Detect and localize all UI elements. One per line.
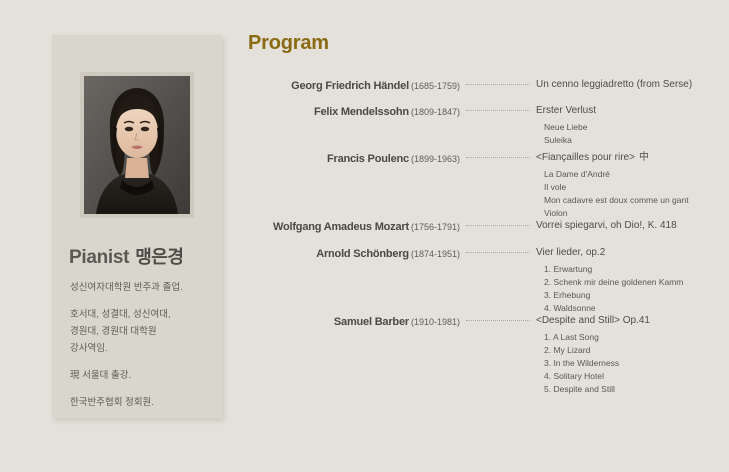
composer-cell: Samuel Barber(1910-1981)	[248, 314, 460, 329]
work-piece: 2. My Lizard	[544, 344, 718, 357]
dotted-leader	[466, 320, 530, 321]
program-entry: Samuel Barber(1910-1981)<Despite and Sti…	[248, 314, 718, 396]
composer-dates: (1874-1951)	[411, 249, 460, 259]
work-title-text: <Despite and Still> Op.41	[536, 315, 650, 326]
dotted-leader	[466, 252, 530, 253]
dotted-leader	[466, 157, 530, 158]
work-piece: Suleika	[544, 134, 718, 147]
program-area: Program Georg Friedrich Händel(1685-1759…	[248, 32, 718, 408]
works-cell: <Despite and Still> Op.411. A Last Song2…	[536, 314, 718, 396]
work-title-text: Vorrei spiegarvi, oh Dio!, K. 418	[536, 220, 677, 231]
work-piece: 2. Schenk mir deine goldenen Kamm	[544, 276, 718, 289]
pianist-bio: 성신여자대학원 반주과 졸업.호서대, 성결대, 성신여대,경원대, 경원대 대…	[70, 279, 215, 411]
composer-name: Samuel Barber	[334, 316, 409, 328]
work-piece: 5. Despite and Still	[544, 383, 718, 396]
portrait-photo	[84, 76, 190, 214]
work-piece: 3. Erhebung	[544, 289, 718, 302]
composer-name: Georg Friedrich Händel	[291, 80, 409, 92]
dotted-leader	[466, 110, 530, 111]
program-entry: Arnold Schönberg(1874-1951)Vier lieder, …	[248, 246, 718, 315]
composer-dates: (1910-1981)	[411, 317, 460, 327]
composer-name: Wolfgang Amadeus Mozart	[273, 221, 409, 233]
pianist-name: 맹은경	[135, 247, 183, 267]
composer-name: Arnold Schönberg	[316, 248, 409, 260]
composer-dates: (1685-1759)	[411, 81, 460, 91]
work-piece: Mon cadavre est doux comme un gant	[544, 194, 718, 207]
composer-cell: Francis Poulenc(1899-1963)	[248, 151, 460, 166]
portrait-frame	[80, 72, 194, 218]
program-entry: Georg Friedrich Händel(1685-1759)Un cenn…	[248, 78, 718, 92]
composer-cell: Arnold Schönberg(1874-1951)	[248, 246, 460, 261]
bio-paragraph: 호서대, 성결대, 성신여대,경원대, 경원대 대학원강사역임.	[70, 306, 215, 357]
pianist-heading: Pianist맹은경	[69, 243, 219, 269]
composer-cell: Wolfgang Amadeus Mozart(1756-1791)	[248, 219, 460, 234]
works-cell: Vier lieder, op.21. Erwartung2. Schenk m…	[536, 246, 718, 315]
works-cell: Un cenno leggiadretto (from Serse)	[536, 78, 718, 92]
work-title: <Despite and Still> Op.41	[536, 314, 718, 328]
composer-dates: (1756-1791)	[411, 222, 460, 232]
program-entry: Wolfgang Amadeus Mozart(1756-1791)Vorrei…	[248, 219, 718, 233]
pianist-profile-panel: Pianist맹은경 성신여자대학원 반주과 졸업.호서대, 성결대, 성신여대…	[52, 35, 222, 418]
dotted-leader	[466, 225, 530, 226]
program-list: Georg Friedrich Händel(1685-1759)Un cenn…	[248, 78, 718, 408]
works-cell: <Fiançailles pour rire>中La Dame d'AndréI…	[536, 151, 718, 220]
pianist-role-label: Pianist	[69, 247, 129, 268]
composer-cell: Georg Friedrich Händel(1685-1759)	[248, 78, 460, 93]
work-title: Vorrei spiegarvi, oh Dio!, K. 418	[536, 219, 718, 233]
work-title: Vier lieder, op.2	[536, 246, 718, 260]
composer-name: Francis Poulenc	[327, 153, 409, 165]
program-entry: Felix Mendelssohn(1809-1847)Erster Verlu…	[248, 104, 718, 147]
composer-name: Felix Mendelssohn	[314, 106, 409, 118]
work-piece: 1. A Last Song	[544, 331, 718, 344]
work-piece: 3. In the Wilderness	[544, 357, 718, 370]
composer-dates: (1809-1847)	[411, 107, 460, 117]
work-title-text: Erster Verlust	[536, 105, 596, 116]
work-piece: 1. Erwartung	[544, 263, 718, 276]
work-title-text: <Fiançailles pour rire>	[536, 152, 635, 163]
dotted-leader	[466, 84, 530, 85]
work-piece: 4. Solitary Hotel	[544, 370, 718, 383]
works-cell: Erster VerlustNeue LiebeSuleika	[536, 104, 718, 147]
composer-dates: (1899-1963)	[411, 154, 460, 164]
work-title-cjk-marker: 中	[639, 152, 649, 163]
composer-cell: Felix Mendelssohn(1809-1847)	[248, 104, 460, 119]
bio-paragraph: 성신여자대학원 반주과 졸업.	[70, 279, 215, 296]
work-piece: La Dame d'André	[544, 168, 718, 181]
work-title-text: Vier lieder, op.2	[536, 247, 605, 258]
work-piece: Il vole	[544, 181, 718, 194]
work-title: Un cenno leggiadretto (from Serse)	[536, 78, 718, 92]
work-title: Erster Verlust	[536, 104, 718, 118]
work-title: <Fiançailles pour rire>中	[536, 151, 718, 165]
bio-paragraph: 한국반주협회 정회원.	[70, 394, 215, 411]
page-title: Program	[248, 32, 718, 54]
works-cell: Vorrei spiegarvi, oh Dio!, K. 418	[536, 219, 718, 233]
bio-paragraph: 現 서울대 출강.	[70, 367, 215, 384]
program-entry: Francis Poulenc(1899-1963)<Fiançailles p…	[248, 151, 718, 220]
work-piece: Neue Liebe	[544, 121, 718, 134]
work-title-text: Un cenno leggiadretto (from Serse)	[536, 79, 692, 90]
